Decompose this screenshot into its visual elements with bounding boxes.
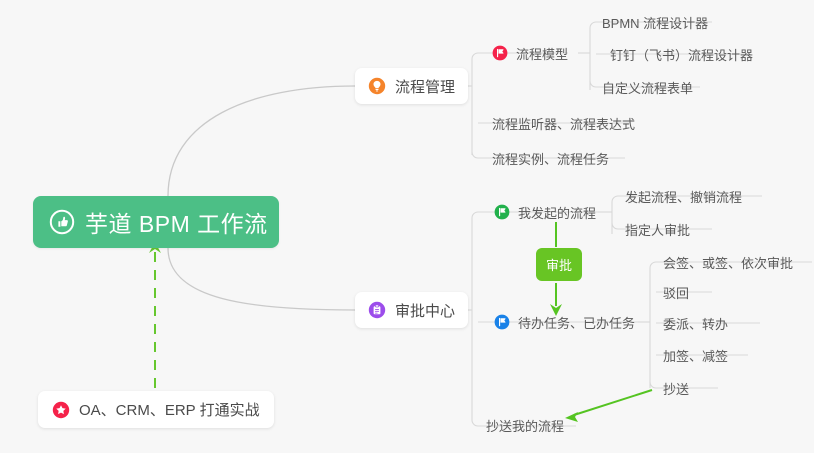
flag-icon — [494, 314, 510, 330]
node-label-assignee-approval: 指定人审批 — [625, 220, 690, 239]
link-ac-corner-top — [472, 212, 478, 218]
callout-node[interactable]: OA、CRM、ERP 打通实战 — [38, 391, 274, 428]
node-label-dingtalk-feishu-designer: 钉钉（飞书）流程设计器 — [610, 45, 753, 64]
node-add-remove-sign[interactable]: 加签、减签 — [663, 344, 728, 366]
node-label-my-initiated-process: 我发起的流程 — [518, 203, 596, 222]
clipboard-icon — [368, 301, 386, 319]
link-todo-corner-top — [650, 262, 656, 268]
branch-node-approval-center[interactable]: 审批中心 — [355, 292, 468, 328]
node-assignee-approval[interactable]: 指定人审批 — [625, 218, 690, 240]
root-label: 芋道 BPM 工作流 — [85, 205, 268, 239]
node-my-initiated-process[interactable]: 我发起的流程 — [494, 201, 596, 223]
node-dingtalk-feishu-designer[interactable]: 钉钉（飞书）流程设计器 — [610, 43, 753, 65]
node-instance-task[interactable]: 流程实例、流程任务 — [492, 147, 609, 169]
approval-tag[interactable]: 审批 — [536, 248, 582, 281]
node-label-todo-done-tasks: 待办任务、已办任务 — [518, 313, 635, 332]
link-ac-corner-bottom — [472, 420, 478, 426]
node-label-instance-task: 流程实例、流程任务 — [492, 149, 609, 168]
node-label-custom-process-form: 自定义流程表单 — [602, 78, 693, 97]
link-root-to-process-management — [168, 86, 355, 196]
node-todo-done-tasks[interactable]: 待办任务、已办任务 — [494, 311, 635, 333]
node-listener-expression[interactable]: 流程监听器、流程表达式 — [492, 112, 635, 134]
node-start-cancel-process[interactable]: 发起流程、撤销流程 — [625, 185, 742, 207]
node-custom-process-form[interactable]: 自定义流程表单 — [602, 76, 693, 98]
branch-node-process-management[interactable]: 流程管理 — [355, 68, 468, 104]
node-delegate-transfer[interactable]: 委派、转办 — [663, 312, 728, 334]
node-label-bpmn-designer: BPMN 流程设计器 — [602, 13, 708, 32]
annotation-arrow-cc — [565, 390, 652, 422]
callout-label: OA、CRM、ERP 打通实战 — [79, 399, 260, 420]
link-todo-corner-bottom — [650, 382, 656, 388]
node-process-model[interactable]: 流程模型 — [492, 42, 568, 64]
node-label-add-remove-sign: 加签、减签 — [663, 346, 728, 365]
lightbulb-icon — [368, 77, 386, 95]
branch-label-process-management: 流程管理 — [395, 76, 455, 97]
link-pm-corner-bottom — [472, 152, 478, 158]
thumbs-up-icon — [49, 209, 75, 235]
node-cc[interactable]: 抄送 — [663, 377, 689, 399]
mindmap-canvas: 芋道 BPM 工作流 OA、CRM、ERP 打通实战 流程管理 — [0, 0, 814, 453]
node-label-cc: 抄送 — [663, 379, 689, 398]
node-label-countersign: 会签、或签、依次审批 — [663, 253, 793, 272]
link-pm-corner-top — [472, 53, 478, 59]
link-root-to-approval-center — [168, 248, 355, 310]
node-label-cc-to-me-process: 抄送我的流程 — [486, 416, 564, 435]
flag-icon — [492, 45, 508, 61]
node-countersign[interactable]: 会签、或签、依次审批 — [663, 251, 793, 273]
star-icon — [52, 401, 70, 419]
branch-label-approval-center: 审批中心 — [395, 300, 455, 321]
node-cc-to-me-process[interactable]: 抄送我的流程 — [486, 414, 564, 436]
link-mine-corner-bottom — [612, 223, 618, 229]
annotation-arrow-callout — [149, 242, 161, 388]
link-pmodel-corner-bottom — [590, 81, 596, 87]
node-reject[interactable]: 驳回 — [663, 281, 689, 303]
node-label-listener-expression: 流程监听器、流程表达式 — [492, 114, 635, 133]
approval-tag-label: 审批 — [546, 255, 572, 274]
node-label-reject: 驳回 — [663, 283, 689, 302]
node-label-process-model: 流程模型 — [516, 44, 568, 63]
node-bpmn-designer[interactable]: BPMN 流程设计器 — [602, 11, 708, 33]
link-pmodel-corner-top — [590, 22, 596, 28]
node-label-start-cancel-process: 发起流程、撤销流程 — [625, 187, 742, 206]
flag-icon — [494, 204, 510, 220]
node-label-delegate-transfer: 委派、转办 — [663, 314, 728, 333]
link-mine-corner-top — [612, 196, 618, 202]
root-node[interactable]: 芋道 BPM 工作流 — [33, 196, 279, 248]
